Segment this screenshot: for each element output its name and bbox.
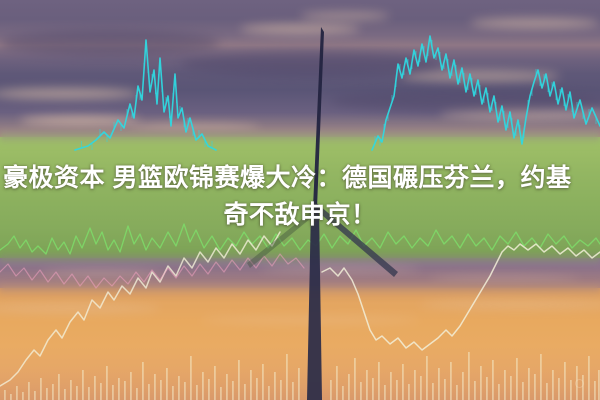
headline-line-2: 奇不敌申京！	[3, 197, 597, 234]
headline-text: 豪极资本 男篮欧锦赛爆大冷：德国碾压芬兰，约基 奇不敌申京！	[0, 160, 600, 234]
news-thumbnail: 豪极资本 男篮欧锦赛爆大冷：德国碾压芬兰，约基 奇不敌申京！	[0, 0, 600, 400]
headline-line-1: 豪极资本 男篮欧锦赛爆大冷：德国碾压芬兰，约基	[3, 160, 597, 197]
turbine-tower	[307, 208, 322, 400]
corner-watermark-icon	[575, 379, 584, 388]
